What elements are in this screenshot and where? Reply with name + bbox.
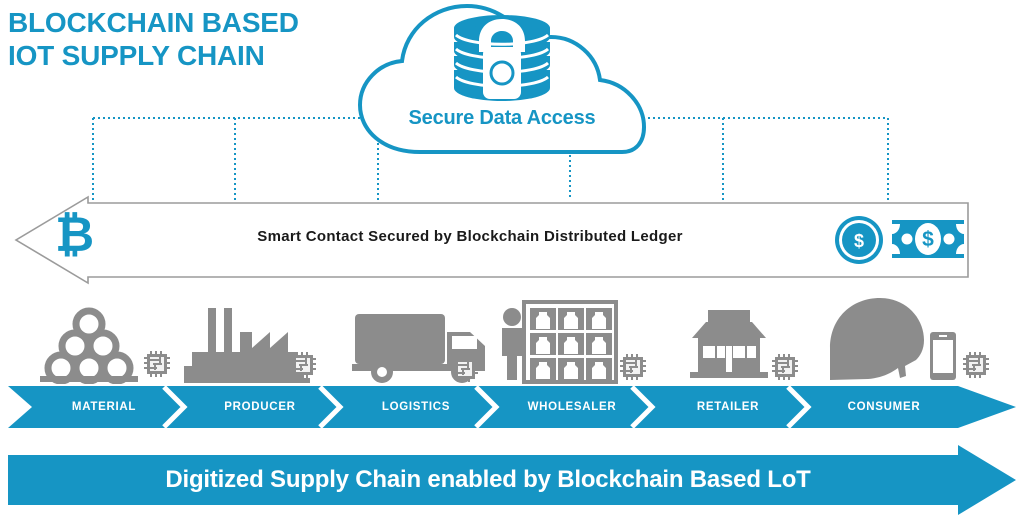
stage-label-wholesaler[interactable]: WHOLESALER xyxy=(502,386,642,428)
materials-stack-icon xyxy=(40,311,138,382)
stage-label-material[interactable]: MATERIAL xyxy=(34,386,174,428)
consumer-head-phone-icon xyxy=(830,298,956,380)
coin-icon: $ xyxy=(835,216,883,264)
lock-icon xyxy=(479,19,525,99)
warehouse-shelf-icon xyxy=(502,302,616,382)
stage-label-retailer[interactable]: RETAILER xyxy=(658,386,798,428)
svg-text:$: $ xyxy=(854,231,864,251)
iot-chip-icon xyxy=(620,354,646,380)
factory-icon xyxy=(184,308,310,383)
cloud-label: Secure Data Access xyxy=(352,107,652,130)
database-lock-icon xyxy=(454,15,550,101)
smart-contract-label: Smart Contact Secured by Blockchain Dist… xyxy=(120,228,820,245)
shop-icon xyxy=(690,310,768,378)
supply-chain-stage-labels: MATERIAL PRODUCER LOGISTICS WHOLESALER R… xyxy=(8,386,1016,428)
stage-icons-row xyxy=(0,288,1024,384)
iot-chip-icon xyxy=(963,352,989,378)
iot-chip-icon xyxy=(772,354,798,380)
smartphone-icon xyxy=(930,332,956,380)
bottom-banner-label: Digitized Supply Chain enabled by Blockc… xyxy=(8,445,968,515)
iot-chip-icon xyxy=(290,352,316,378)
banknote-icon: $ xyxy=(892,220,964,258)
stage-label-consumer[interactable]: CONSUMER xyxy=(814,386,954,428)
stage-label-producer[interactable]: PRODUCER xyxy=(190,386,330,428)
iot-chip-icon xyxy=(452,356,478,382)
svg-text:$: $ xyxy=(922,228,934,251)
secure-data-access-cloud: Secure Data Access xyxy=(352,2,652,160)
bitcoin-icon: ₿ xyxy=(55,212,94,260)
cloud-shape xyxy=(352,2,652,160)
stage-label-logistics[interactable]: LOGISTICS xyxy=(346,386,486,428)
infographic-root: BLOCKCHAIN BASED IOT SUPPLY CHAIN xyxy=(0,0,1024,524)
iot-chip-icon xyxy=(144,351,170,377)
